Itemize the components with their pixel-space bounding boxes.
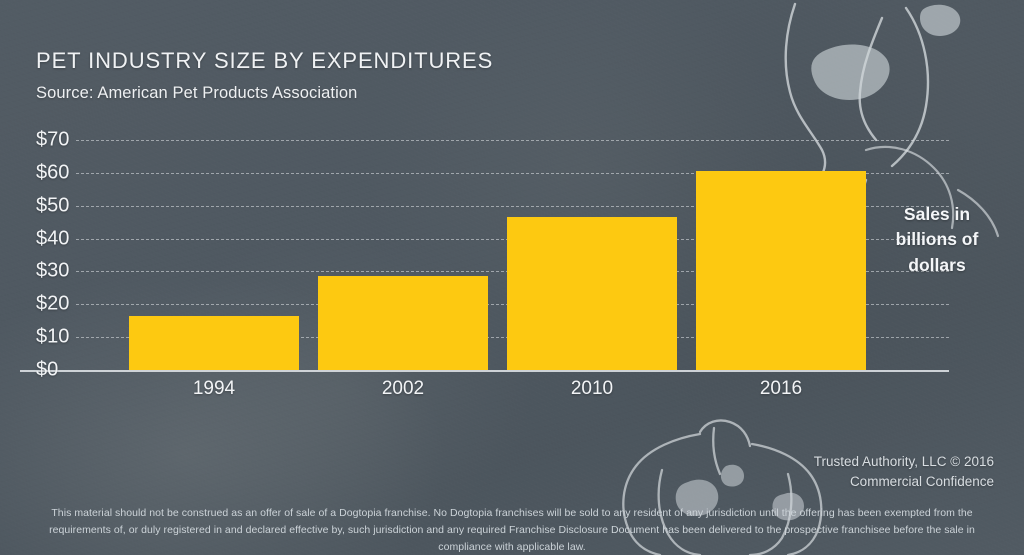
x-axis-line <box>20 370 949 372</box>
x-axis-tick-label-2010: 2010 <box>507 378 677 400</box>
x-axis-tick-label-2016: 2016 <box>696 378 866 400</box>
y-axis-caption: Sales in billions of dollars <box>872 202 1002 278</box>
bar-1994 <box>129 316 299 370</box>
attribution-block: Trusted Authority, LLC © 2016 Commercial… <box>814 452 994 493</box>
legal-disclaimer: This material should not be construed as… <box>30 505 994 555</box>
bar-2002 <box>318 276 488 370</box>
y-axis-tick-label: $30 <box>36 260 96 283</box>
x-axis-tick-label-1994: 1994 <box>129 378 299 400</box>
y-axis-tick-label: $20 <box>36 293 96 316</box>
y-axis-tick-label: $60 <box>36 161 96 184</box>
bar-2010 <box>507 217 677 370</box>
attribution-line-2: Commercial Confidence <box>814 472 994 492</box>
y-axis-tick-label: $70 <box>36 129 96 152</box>
y-axis-tick-label: $50 <box>36 194 96 217</box>
bar-2016 <box>696 171 866 370</box>
gridline <box>76 140 949 141</box>
y-axis-tick-label: $40 <box>36 227 96 250</box>
x-axis-tick-label-2002: 2002 <box>318 378 488 400</box>
slide-canvas: PET INDUSTRY SIZE BY EXPENDITURES Source… <box>0 0 1024 555</box>
attribution-line-1: Trusted Authority, LLC © 2016 <box>814 452 994 472</box>
y-axis-tick-label: $10 <box>36 326 96 349</box>
y-axis-tick-label: $0 <box>36 359 96 382</box>
